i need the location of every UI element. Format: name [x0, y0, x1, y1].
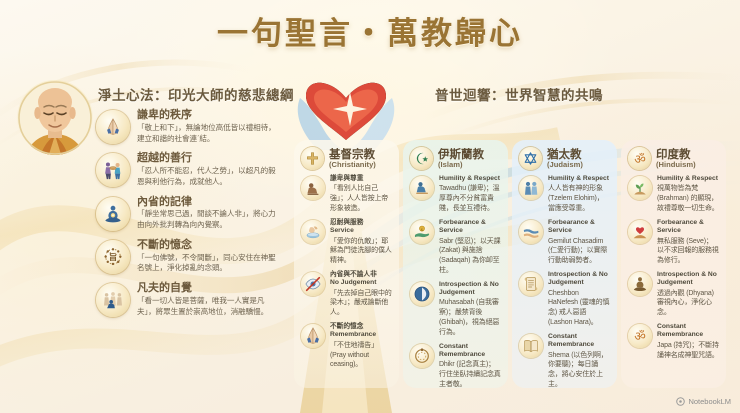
- religion-entry: 內省與不論人非No Judgement「先去掉自己眼中的梁木」；嚴戒論斷他人。: [301, 271, 392, 318]
- religion-entry-body: Humility & Respect視萬物皆為梵 (Brahman) 的顯現，故…: [657, 175, 719, 214]
- religion-entry-label: Constant Remembrance: [548, 333, 610, 350]
- prayer-beads-icon: 旨: [96, 240, 130, 274]
- religion-header: ॐ印度教(Hinduism): [628, 147, 719, 170]
- svg-text:ॐ: ॐ: [634, 329, 646, 344]
- shema-book-icon: [519, 334, 543, 358]
- religion-entry-label: Constant Remembrance: [657, 323, 719, 340]
- religion-panel-islam: 伊斯蘭教(Islam)Humility & RespectTawadhu (謙卑…: [403, 140, 508, 388]
- religion-entry-body: 忍耐與服務Service「愛你的仇敵」；耶穌為門徒洗腳的僕人精神。: [330, 219, 392, 266]
- religion-entry-text: Muhasabah (自我審察)；嚴禁背後 (Ghibah)，視為絕惡行為。: [439, 298, 501, 337]
- religion-header: 伊斯蘭教(Islam): [410, 147, 501, 170]
- religion-entry-body: Constant RemembranceDhikr (記念真主)；行住坐臥持續記…: [439, 343, 501, 388]
- religion-entry-label: Constant Remembrance: [439, 343, 501, 360]
- self-reflection-icon: [410, 282, 434, 306]
- left-principle-title: 不斷的憶念: [137, 238, 282, 252]
- cross-icon: [301, 147, 324, 170]
- religion-entry-label: Introspection & No Judgement: [439, 281, 501, 298]
- religion-entry-label: Introspection & No Judgement: [548, 271, 610, 288]
- kneeling-prayer-icon: [410, 176, 434, 200]
- religion-name: 基督宗教: [329, 148, 376, 160]
- left-principle-title: 超越的善行: [137, 151, 282, 165]
- om-icon: ॐ: [628, 324, 652, 348]
- washing-feet-icon: [301, 220, 325, 244]
- left-principle-text: 內省的記律「靜坐常思己過，閒談不論人非」，將心力由向外批判轉為向內覺察。: [137, 195, 282, 231]
- religion-title-group: 猶太教(Judaism): [547, 148, 583, 169]
- religion-header: 基督宗教(Christianity): [301, 147, 392, 170]
- religion-entry: 不斷的憶念Remembrance「不住地禱告」(Pray without cea…: [301, 323, 392, 370]
- religion-entry: Forbearance & ServiceGemilut Chasadim (仁…: [519, 219, 610, 266]
- religion-entry: Humility & RespectTawadhu (謙卑)；溫厚尊內不分貧富貴…: [410, 175, 501, 214]
- religion-entry-text: Shema (以色列啊，你要聽)；每日誦念，將心安住於上主。: [548, 351, 610, 388]
- religion-entry: Humility & Respect視萬物皆為梵 (Brahman) 的顯現，故…: [628, 175, 719, 214]
- religion-entry-text: Dhikr (記念真主)；行住坐臥持續記念真主者敬。: [439, 360, 501, 388]
- religion-entry-body: Introspection & No Judgement透過內觀 (Dhyana…: [657, 271, 719, 318]
- religion-entry-label: 謙卑與尊重: [330, 175, 392, 183]
- religion-panel-judaism: 猶太教(Judaism)Humility & Respect人人皆有神的形象 (…: [512, 140, 617, 388]
- charity-hand-icon: $: [410, 220, 434, 244]
- religion-entry-body: Constant RemembranceShema (以色列啊，你要聽)；每日誦…: [548, 333, 610, 388]
- religion-panel-hinduism: ॐ印度教(Hinduism)Humility & Respect視萬物皆為梵 (…: [621, 140, 726, 388]
- religion-name: 猶太教: [547, 148, 583, 160]
- svg-text:ॐ: ॐ: [634, 151, 646, 166]
- svg-text:旨: 旨: [109, 252, 117, 262]
- praying-hands-icon: [96, 110, 130, 144]
- religion-name-en: (Islam): [438, 160, 484, 169]
- two-people-icon: [519, 176, 543, 200]
- infographic-canvas: 一句聖言・萬教歸心 淨土心法：印光大師的慈悲總綱 普世迴響：世界智慧的共鳴: [0, 0, 740, 413]
- left-principle-text: 不斷的憶念「一句佛號，不令間斷」，同心安住在神聖名號上，淨化掉亂的念頭。: [137, 238, 282, 274]
- religion-entry: Introspection & No JudgementCheshbon HaN…: [519, 271, 610, 328]
- left-principle-item: 超越的善行「忍人所不能忍，代人之勞」，以超凡的毅恩與利他行為，成就他人。: [96, 151, 282, 187]
- notebooklm-logo-icon: [676, 397, 685, 406]
- religion-entry-body: Humility & Respect人人皆有神的形象 (Tzelem Elohi…: [548, 175, 610, 214]
- religion-entry-text: Tawadhu (謙卑)；溫厚尊內不分貧富貴賤，長並互禮待。: [439, 184, 501, 213]
- religion-entry-body: Introspection & No JudgementMuhasabah (自…: [439, 281, 501, 338]
- religion-entry-text: 視萬物皆為梵 (Brahman) 的顯現，故禮尊敬一切生命。: [657, 184, 719, 213]
- religion-title-group: 伊斯蘭教(Islam): [438, 148, 484, 169]
- religion-entry: Introspection & No JudgementMuhasabah (自…: [410, 281, 501, 338]
- left-principle-desc: 「靜坐常思己過，閒談不論人非」，將心力由向外批判轉為向內覺察。: [137, 209, 282, 231]
- religion-header: 猶太教(Judaism): [519, 147, 610, 170]
- religion-entry: $Forbearance & ServiceSabr (堅忍)；以天課 (Zak…: [410, 219, 501, 276]
- lotus-meditation-icon: [628, 272, 652, 296]
- left-principle-desc: 「一句佛號，不令間斷」，同心安住在神聖名號上，淨化掉亂的念頭。: [137, 253, 282, 275]
- dhikr-circle-icon: [410, 344, 434, 368]
- left-principle-item: 旨不斷的憶念「一句佛號，不令間斷」，同心安住在神聖名號上，淨化掉亂的念頭。: [96, 238, 282, 274]
- heart-hand-icon: [628, 220, 652, 244]
- religion-entry-body: Forbearance & Service無私服務 (Seve)；以不求回報的服…: [657, 219, 719, 266]
- religion-entry: 謙卑與尊重「看別人比自己強」；人人皆按上帝形象被造。: [301, 175, 392, 214]
- left-principle-item: 謙卑的秩序「敬上和下」，無論地位高低皆以禮相待，建立和諧的社會連΄結。: [96, 108, 282, 144]
- religion-entry-label: Introspection & No Judgement: [657, 271, 719, 288]
- religion-entry-label: 內省與不論人非No Judgement: [330, 271, 392, 288]
- left-principle-desc: 「看一切人皆是菩薩，唯我一人實是凡夫」，將眾生置於崇高地位，消融驕慢。: [137, 296, 282, 318]
- left-principle-text: 超越的善行「忍人所不能忍，代人之勞」，以超凡的毅恩與利他行為，成就他人。: [137, 151, 282, 187]
- religion-entry-body: Introspection & No JudgementCheshbon HaN…: [548, 271, 610, 328]
- praying-hands-icon: [301, 324, 325, 348]
- religion-entry-label: Forbearance & Service: [548, 219, 610, 236]
- scroll-icon: [519, 272, 543, 296]
- left-principle-item: 內省的記律「靜坐常思己過，閒談不論人非」，將心力由向外批判轉為向內覺察。: [96, 195, 282, 231]
- religion-entry-text: 「看別人比自己強」；人人皆按上帝形象被造。: [330, 184, 392, 213]
- religion-entry: Constant RemembranceShema (以色列啊，你要聽)；每日誦…: [519, 333, 610, 388]
- religion-entry-label: Humility & Respect: [657, 175, 719, 183]
- religion-name: 伊斯蘭教: [438, 148, 484, 160]
- crescent-star-icon: [410, 147, 433, 170]
- religion-entry: Introspection & No Judgement透過內觀 (Dhyana…: [628, 271, 719, 318]
- master-portrait: [16, 72, 94, 164]
- religion-entry: Forbearance & Service無私服務 (Seve)；以不求回報的服…: [628, 219, 719, 266]
- religion-entry: 忍耐與服務Service「愛你的仇敵」；耶穌為門徒洗腳的僕人精神。: [301, 219, 392, 266]
- religion-panels: 基督宗教(Christianity)謙卑與尊重「看別人比自己強」；人人皆按上帝形…: [294, 140, 726, 388]
- religion-entry-text: 「不住地禱告」(Pray without ceasing)。: [330, 341, 392, 370]
- left-principle-desc: 「敬上和下」，無論地位高低皆以禮相待，建立和諧的社會連΄結。: [137, 123, 282, 145]
- helping-person-icon: [96, 153, 130, 187]
- left-principle-title: 凡夫的自覺: [137, 281, 282, 295]
- religion-entry-text: 「先去掉自己眼中的梁木」；嚴戒論斷他人。: [330, 289, 392, 318]
- left-principle-text: 凡夫的自覺「看一切人皆是菩薩，唯我一人實是凡夫」，將眾生置於崇高地位，消融驕慢。: [137, 281, 282, 317]
- right-section-heading: 普世迴響：世界智慧的共鳴: [435, 84, 603, 104]
- helping-hands-icon: [519, 220, 543, 244]
- kneeling-figure-icon: [96, 283, 130, 317]
- left-principle-text: 謙卑的秩序「敬上和下」，無論地位高低皆以禮相待，建立和諧的社會連΄結。: [137, 108, 282, 144]
- religion-entry-body: Forbearance & ServiceSabr (堅忍)；以天課 (Zaka…: [439, 219, 501, 276]
- religion-panel-christianity: 基督宗教(Christianity)謙卑與尊重「看別人比自己強」；人人皆按上帝形…: [294, 140, 399, 388]
- religion-name: 印度教: [656, 148, 696, 160]
- religion-entry: Constant RemembranceDhikr (記念真主)；行住坐臥持續記…: [410, 343, 501, 388]
- page-title: 一句聖言・萬教歸心: [0, 8, 740, 53]
- left-principle-desc: 「忍人所不能忍，代人之勞」，以超凡的毅恩與利他行為，成就他人。: [137, 166, 282, 188]
- religion-entry-body: 不斷的憶念Remembrance「不住地禱告」(Pray without cea…: [330, 323, 392, 370]
- religion-entry-label: 忍耐與服務Service: [330, 219, 392, 236]
- religion-entry-label: Forbearance & Service: [657, 219, 719, 236]
- religion-entry-label: Forbearance & Service: [439, 219, 501, 236]
- religion-entry-body: Forbearance & ServiceGemilut Chasadim (仁…: [548, 219, 610, 266]
- watermark-label: NotebookLM: [688, 397, 731, 406]
- left-principles-list: 謙卑的秩序「敬上和下」，無論地位高低皆以禮相待，建立和諧的社會連΄結。超越的善行…: [96, 108, 282, 325]
- religion-name-en: (Christianity): [329, 160, 376, 169]
- religion-name-en: (Hinduism): [656, 160, 696, 169]
- religion-entry-label: Humility & Respect: [548, 175, 610, 183]
- meditation-icon: [96, 197, 130, 231]
- left-principle-title: 謙卑的秩序: [137, 108, 282, 122]
- bowing-figure-icon: [301, 176, 325, 200]
- religion-entry-body: 謙卑與尊重「看別人比自己強」；人人皆按上帝形象被造。: [330, 175, 392, 214]
- religion-entry-text: 「愛你的仇敵」；耶穌為門徒洗腳的僕人精神。: [330, 237, 392, 266]
- star-of-david-icon: [519, 147, 542, 170]
- om-icon: ॐ: [628, 147, 651, 170]
- religion-name-en: (Judaism): [547, 160, 583, 169]
- religion-entry-text: Gemilut Chasadim (仁愛行動)；以實際行動助弱勢者。: [548, 237, 610, 266]
- religion-entry-body: Constant RemembranceJapa (持咒)；不斷持誦神名成神聖咒…: [657, 323, 719, 360]
- religion-entry-body: Humility & RespectTawadhu (謙卑)；溫厚尊內不分貧富貴…: [439, 175, 501, 214]
- left-principle-title: 內省的記律: [137, 195, 282, 209]
- religion-entry: ॐConstant RemembranceJapa (持咒)；不斷持誦神名成神聖…: [628, 323, 719, 360]
- religion-entry-text: Japa (持咒)；不斷持誦神名成神聖咒語。: [657, 341, 719, 361]
- left-principle-item: 凡夫的自覺「看一切人皆是菩薩，唯我一人實是凡夫」，將眾生置於崇高地位，消融驕慢。: [96, 281, 282, 317]
- religion-entry-text: 人人皆有神的形象 (Tzelem Elohim)，當應受尊重。: [548, 184, 610, 213]
- eye-crossed-icon: [301, 272, 325, 296]
- religion-title-group: 基督宗教(Christianity): [329, 148, 376, 169]
- religion-entry-text: 無私服務 (Seve)；以不求回報的服務視為修行。: [657, 237, 719, 266]
- religion-entry-text: 透過內觀 (Dhyana) 審視內心，淨化心念。: [657, 289, 719, 318]
- religion-entry-label: 不斷的憶念Remembrance: [330, 323, 392, 340]
- religion-entry-body: 內省與不論人非No Judgement「先去掉自己眼中的梁木」；嚴戒論斷他人。: [330, 271, 392, 318]
- religion-title-group: 印度教(Hinduism): [656, 148, 696, 169]
- religion-entry-text: Sabr (堅忍)；以天課 (Zakat) 與施捨 (Sadaqah) 為你卹至…: [439, 237, 501, 276]
- sprout-hand-icon: [628, 176, 652, 200]
- left-section-heading: 淨土心法：印光大師的慈悲總綱: [98, 84, 294, 104]
- religion-entry-label: Humility & Respect: [439, 175, 501, 183]
- religion-entry-text: Cheshbon HaNefesh (靈魂的慎念) 戒人惡語 (Lashon H…: [548, 289, 610, 328]
- religion-entry: Humility & Respect人人皆有神的形象 (Tzelem Elohi…: [519, 175, 610, 214]
- watermark: NotebookLM: [676, 397, 731, 406]
